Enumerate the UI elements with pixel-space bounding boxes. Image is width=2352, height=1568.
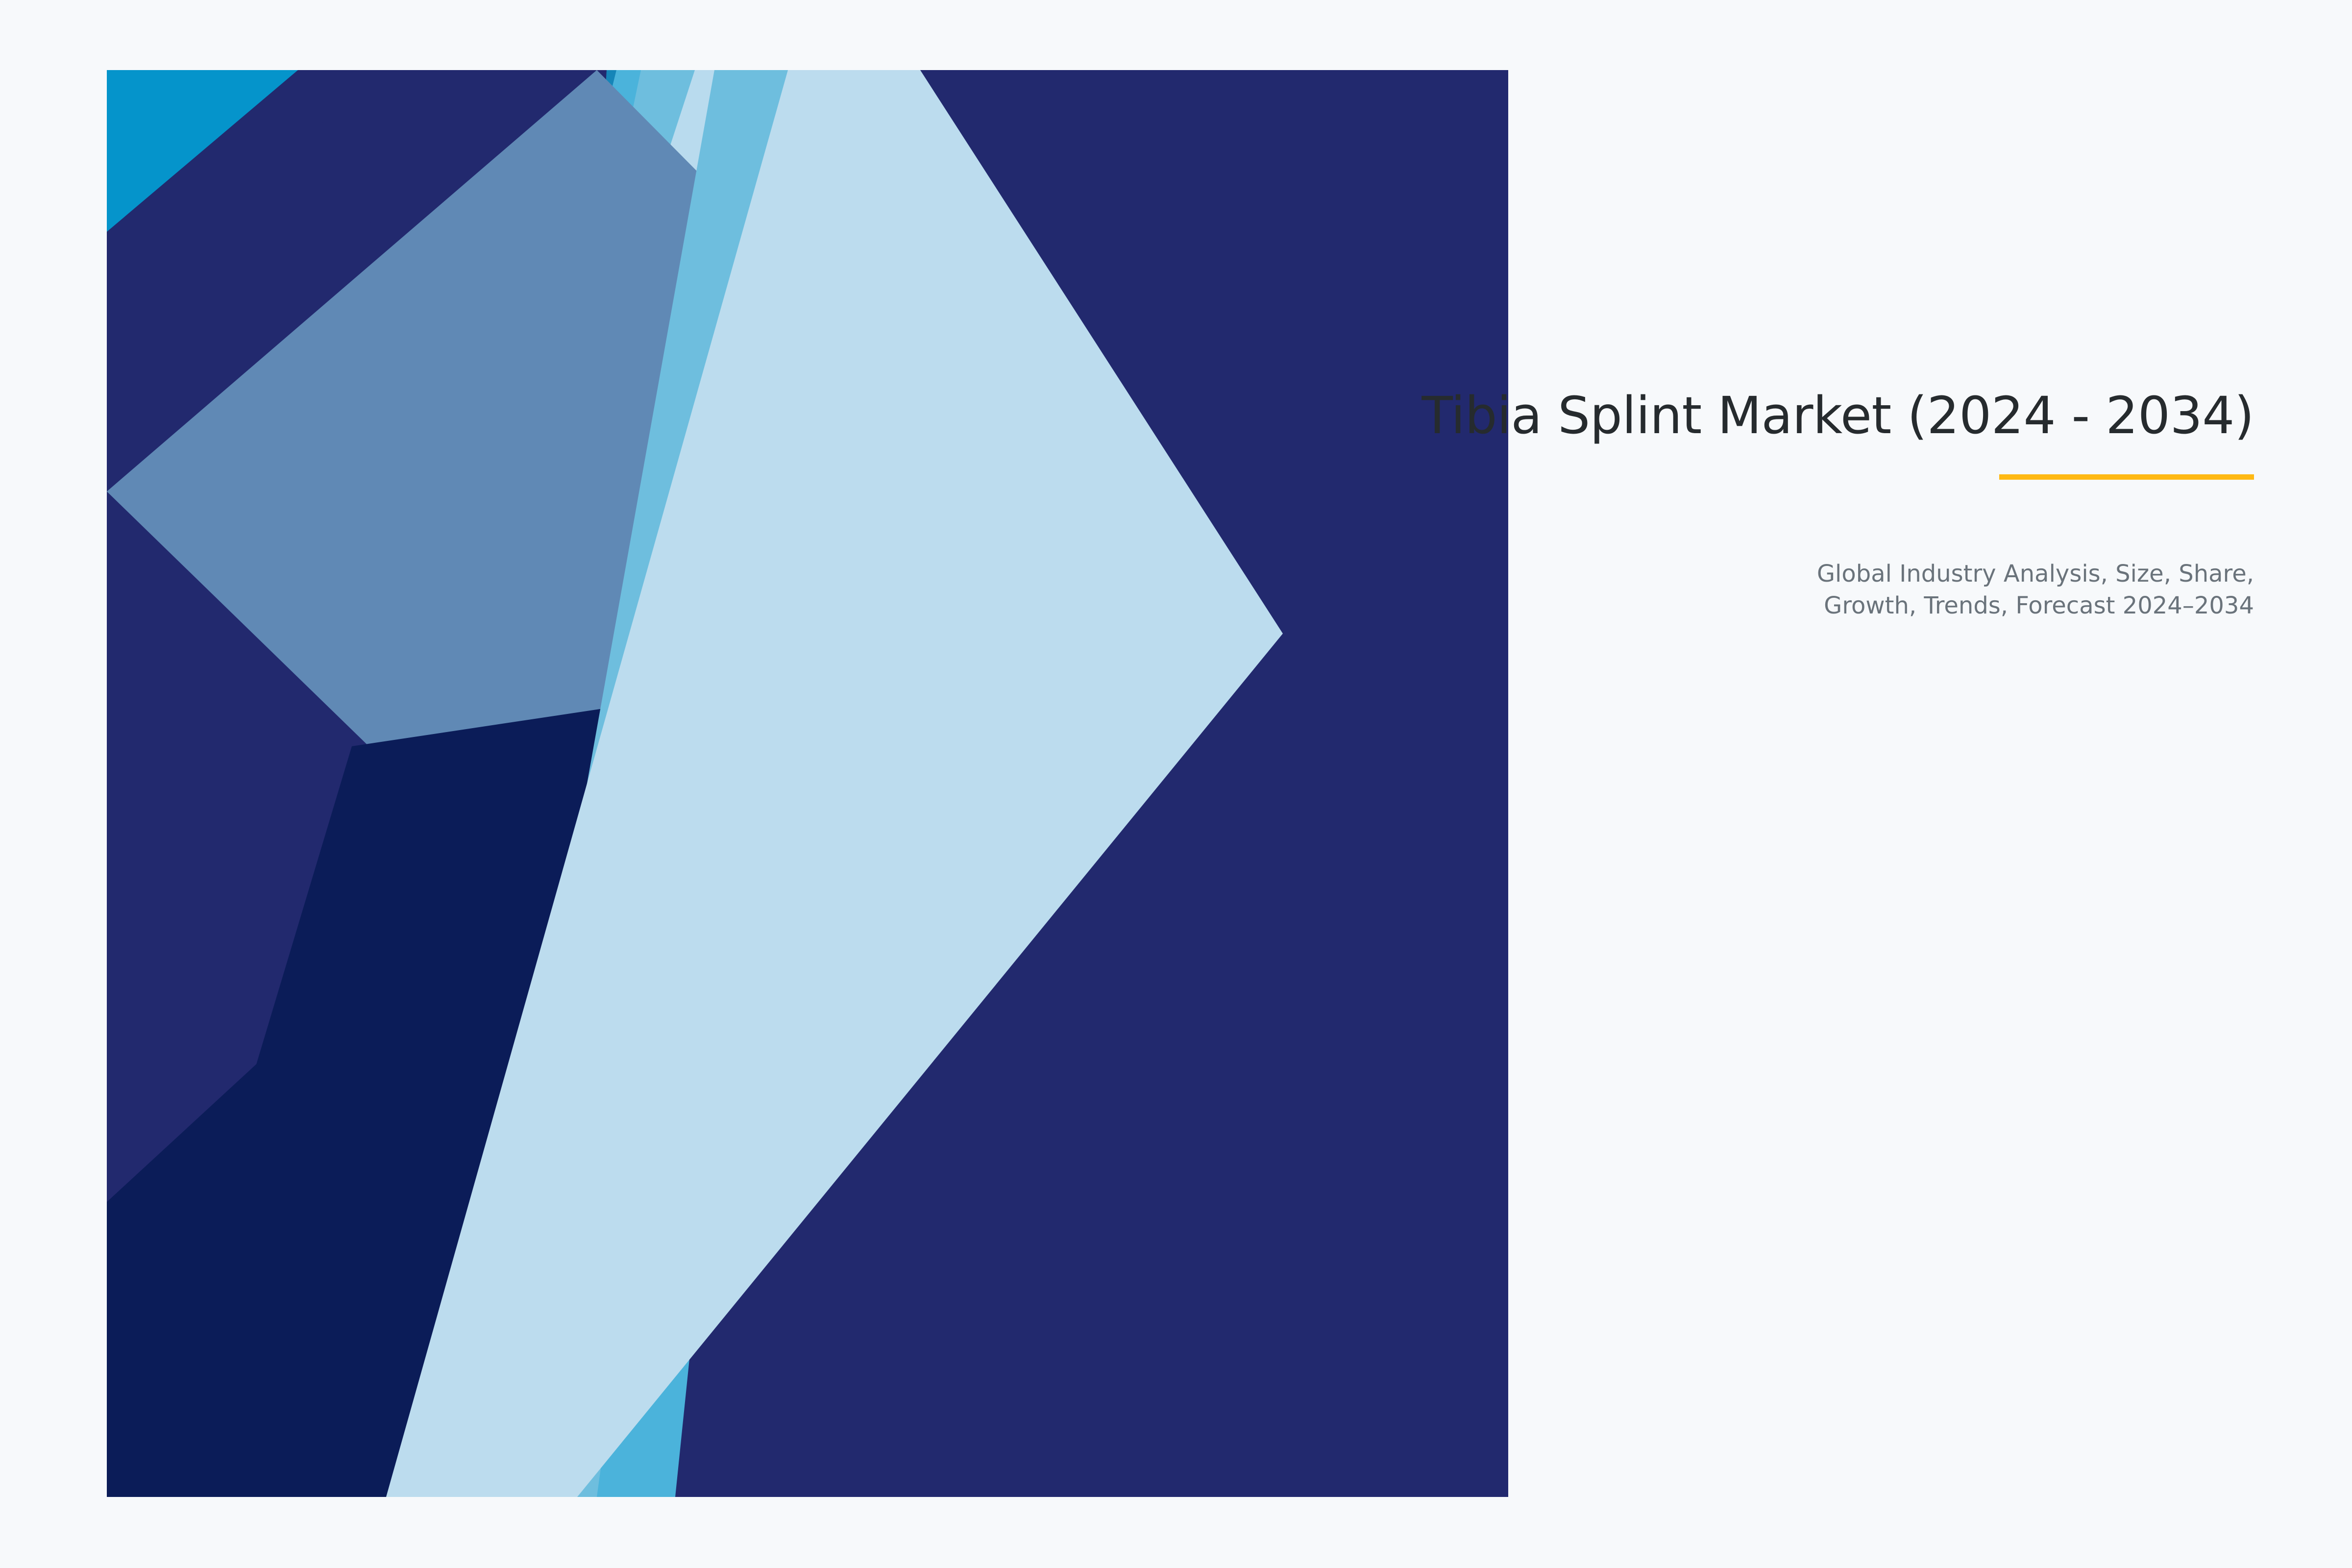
accent-rule-wrapper	[980, 474, 2254, 480]
abstract-angular-blue-collage	[107, 70, 1508, 1497]
page-title: Tibia Splint Market (2024 - 2034)	[980, 387, 2254, 444]
accent-rule	[1999, 474, 2254, 480]
cover-text-block: Tibia Splint Market (2024 - 2034) Global…	[980, 387, 2254, 621]
artwork-svg	[107, 70, 1508, 1497]
page-subtitle: Global Industry Analysis, Size, Share, G…	[1632, 558, 2254, 621]
report-cover-slide: Tibia Splint Market (2024 - 2034) Global…	[0, 0, 2352, 1568]
